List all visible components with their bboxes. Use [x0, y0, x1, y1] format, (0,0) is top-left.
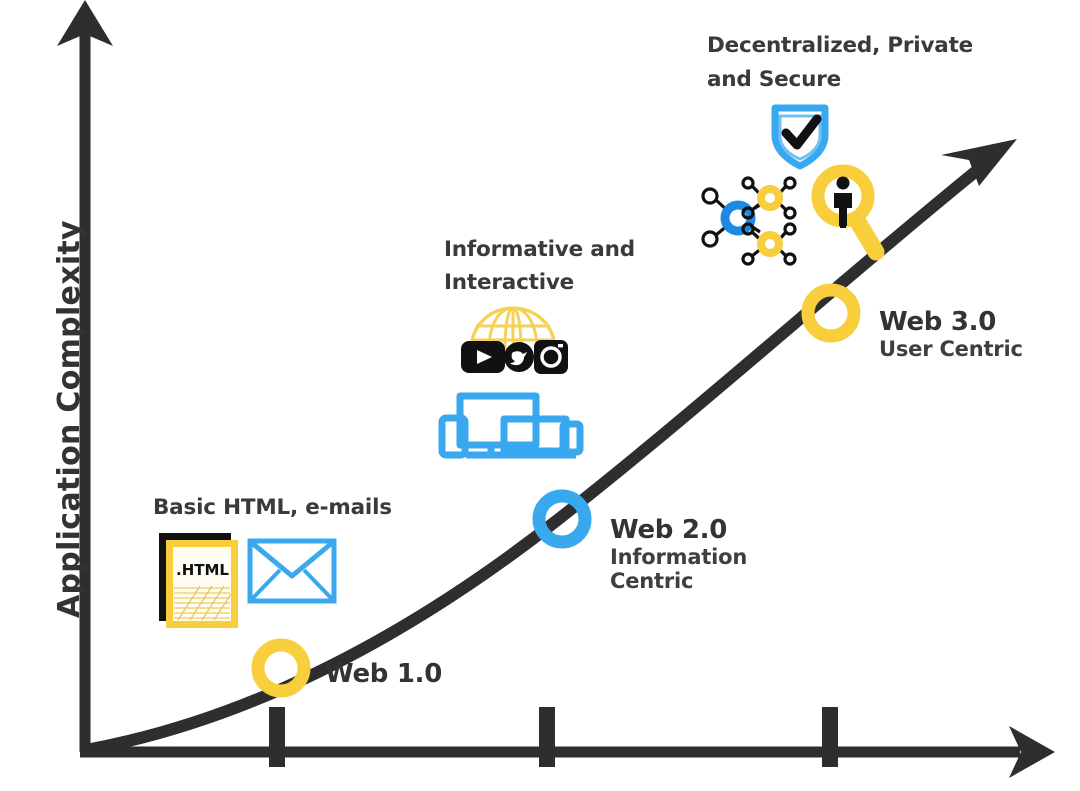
html-document-label: .HTML — [176, 561, 229, 579]
web2-headline-line1: Informative and — [444, 237, 635, 262]
web2-stage-title: Web 2.0 — [610, 515, 727, 546]
web1-stage-title: Web 1.0 — [325, 659, 442, 690]
web3-stage-sub-line1: User Centric — [879, 337, 1023, 362]
devices-icon — [442, 396, 580, 455]
twitter-icon — [504, 342, 534, 372]
x-axis-tick — [269, 707, 285, 767]
user-magnifier-icon — [818, 171, 876, 252]
web2-headline-line2: Interactive — [444, 270, 574, 295]
chart-canvas: Application Complexity Basic HTML, e-mai… — [0, 0, 1080, 791]
web3-stage-title: Web 3.0 — [879, 307, 996, 338]
html-document-icon — [159, 533, 238, 628]
x-axis-ticks — [269, 707, 838, 767]
web2-stage-sub-line1: Information — [610, 545, 747, 570]
web2-stage-sub-line2: Centric — [610, 569, 693, 594]
shield-check-icon — [775, 108, 825, 166]
instagram-icon — [534, 340, 568, 374]
web3-headline-line1: Decentralized, Private — [707, 33, 973, 58]
x-axis-tick — [822, 707, 838, 767]
network-node — [761, 189, 779, 207]
network-nodes-icon — [703, 178, 795, 264]
y-axis-label: Application Complexity — [52, 220, 87, 618]
trend-arrow-icon — [941, 139, 1017, 186]
youtube-icon — [461, 341, 505, 373]
chart-vector-layer — [0, 0, 1080, 791]
network-node — [761, 235, 779, 253]
x-axis-tick — [539, 707, 555, 767]
web3-headline-line2: and Secure — [707, 67, 841, 92]
envelope-icon — [250, 541, 334, 601]
web1-headline: Basic HTML, e-mails — [153, 495, 392, 520]
